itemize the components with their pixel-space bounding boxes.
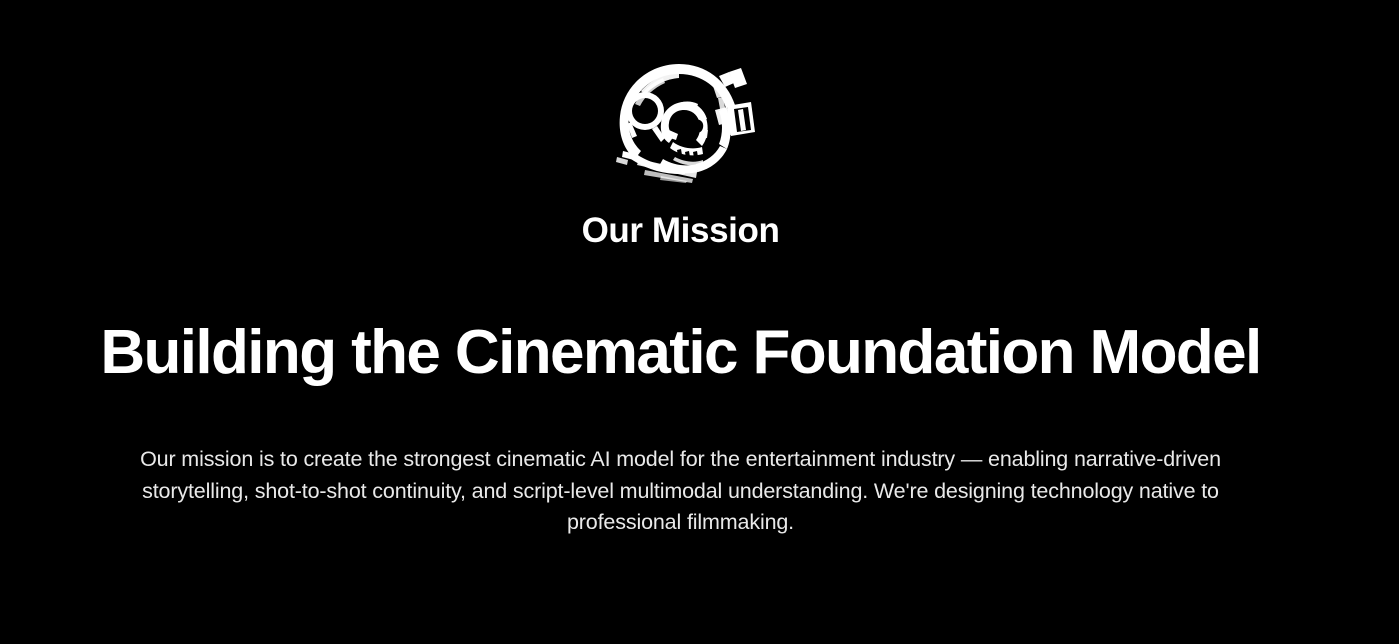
mission-page: Our Mission Building the Cinematic Found… — [0, 0, 1399, 644]
mission-hero-section: Our Mission Building the Cinematic Found… — [0, 0, 1361, 644]
astronaut-helmet-skull-icon — [601, 58, 761, 183]
mission-description: Our mission is to create the strongest c… — [131, 444, 1231, 539]
page-title: Building the Cinematic Foundation Model — [100, 320, 1260, 386]
brand-logo — [601, 58, 761, 183]
section-eyebrow-label: Our Mission — [582, 213, 780, 248]
